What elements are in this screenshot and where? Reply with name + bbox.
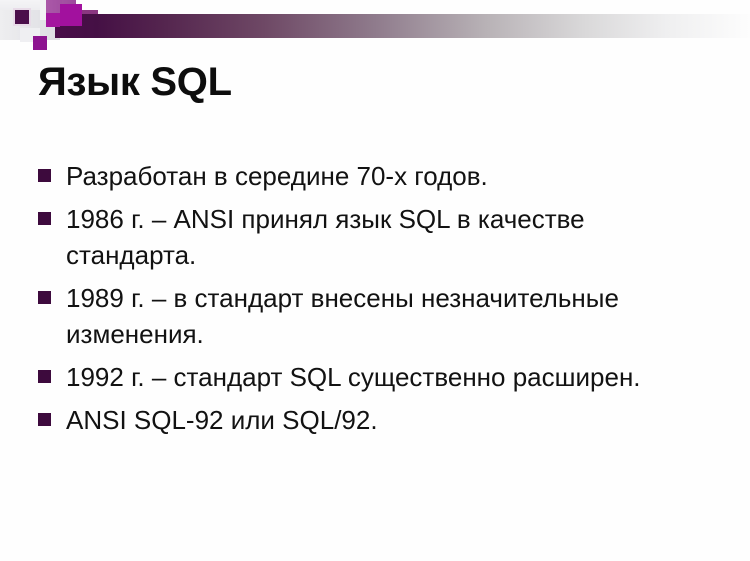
decoration-magenta-square-b	[46, 13, 60, 27]
list-item: 1986 г. – ANSI принял язык SQL в качеств…	[38, 201, 728, 273]
list-item-label: Разработан в середине 70-х годов.	[66, 158, 706, 194]
list-item: 1992 г. – стандарт SQL существенно расши…	[38, 359, 728, 395]
slide: Язык SQL Разработан в середине 70-х годо…	[0, 0, 750, 561]
list-item: 1989 г. – в стандарт внесены незначитель…	[38, 280, 728, 352]
square-bullet-icon	[38, 212, 51, 225]
square-bullet-icon	[38, 413, 51, 426]
square-bullet-icon	[38, 291, 51, 304]
list-item-label: 1992 г. – стандарт SQL существенно расши…	[66, 359, 706, 395]
square-bullet-icon	[38, 370, 51, 383]
decoration-dark-purple-square-a	[13, 8, 31, 26]
list-item: ANSI SQL-92 или SQL/92.	[38, 402, 728, 438]
list-item-label: ANSI SQL-92 или SQL/92.	[66, 402, 706, 438]
decoration-magenta-square-e	[60, 4, 82, 26]
list-item-label: 1986 г. – ANSI принял язык SQL в качеств…	[66, 201, 706, 273]
page-title: Язык SQL	[38, 60, 232, 105]
decoration-magenta-square-c	[33, 36, 47, 50]
header-decoration	[0, 0, 750, 56]
list-item: Разработан в середине 70-х годов.	[38, 158, 728, 194]
bullet-list: Разработан в середине 70-х годов. 1986 г…	[38, 158, 728, 445]
square-bullet-icon	[38, 169, 51, 182]
list-item-label: 1989 г. – в стандарт внесены незначитель…	[66, 280, 706, 352]
decoration-gradient-bar	[55, 14, 750, 38]
